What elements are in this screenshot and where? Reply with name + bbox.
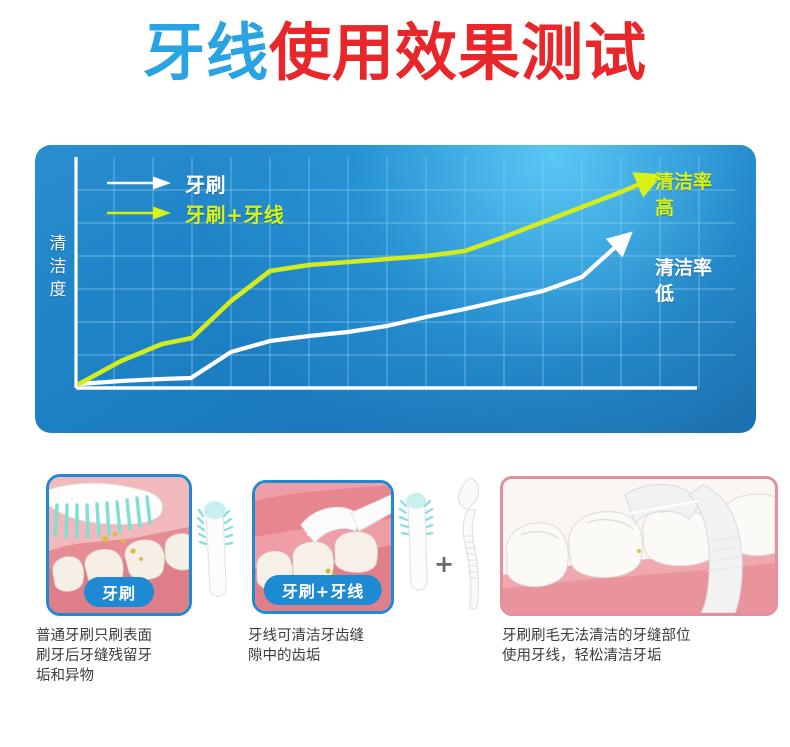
panel-brush-floss-badge: 牙刷+牙线 — [264, 575, 382, 605]
legend-label-toothbrush-floss: 牙刷+牙线 — [185, 199, 284, 228]
page-title-blue: 牙线 — [143, 16, 269, 89]
panel-brush-floss: 牙刷+牙线 + — [244, 472, 474, 612]
caption-toothbrush: 普通牙刷只刷表面 刷牙后牙缝残留牙 垢和异物 — [36, 626, 246, 686]
chart-panel: 清洁度 牙刷 牙刷+牙线 清洁率 高 清洁率 低 — [35, 145, 756, 433]
illustration-panels: 牙刷 — [0, 472, 790, 632]
legend-item-toothbrush-floss: 牙刷+牙线 — [105, 198, 284, 228]
annotation-clean-rate-low: 清洁率 低 — [655, 255, 712, 307]
toothbrush-icon — [394, 486, 436, 598]
floss-pick-icon — [446, 474, 490, 610]
annotation-high-line2: 高 — [655, 195, 712, 221]
panel-floss-closeup-figure — [500, 476, 778, 616]
annotation-clean-rate-high: 清洁率 高 — [655, 169, 712, 221]
panel-toothbrush-figure: 牙刷 — [46, 474, 192, 616]
caption-floss-closeup: 牙刷刷毛无法清洁的牙缝部位 使用牙线，轻松清洁牙垢 — [502, 626, 772, 666]
panel-toothbrush-badge: 牙刷 — [84, 577, 154, 607]
y-axis-label: 清洁度 — [45, 233, 71, 302]
annotation-low-line1: 清洁率 — [655, 255, 712, 281]
panel-floss-closeup — [500, 476, 772, 612]
page-title: 牙线使用效果测试 — [0, 22, 790, 84]
annotation-high-line1: 清洁率 — [655, 169, 712, 195]
caption-brush-floss: 牙线可清洁牙齿缝 隙中的齿垢 — [248, 626, 458, 666]
teeth-closeup-illustration — [503, 479, 775, 613]
toothbrush-icon — [190, 494, 236, 604]
page-title-red: 使用效果测试 — [269, 16, 647, 89]
panel-brush-floss-figure: 牙刷+牙线 — [252, 480, 394, 614]
legend-item-toothbrush: 牙刷 — [105, 168, 284, 198]
annotation-low-line2: 低 — [655, 281, 712, 307]
arrow-right-icon — [105, 175, 173, 191]
chart-legend: 牙刷 牙刷+牙线 — [105, 168, 284, 228]
arrow-right-icon — [105, 205, 173, 221]
legend-label-toothbrush: 牙刷 — [185, 169, 226, 198]
panel-toothbrush: 牙刷 — [36, 472, 236, 612]
